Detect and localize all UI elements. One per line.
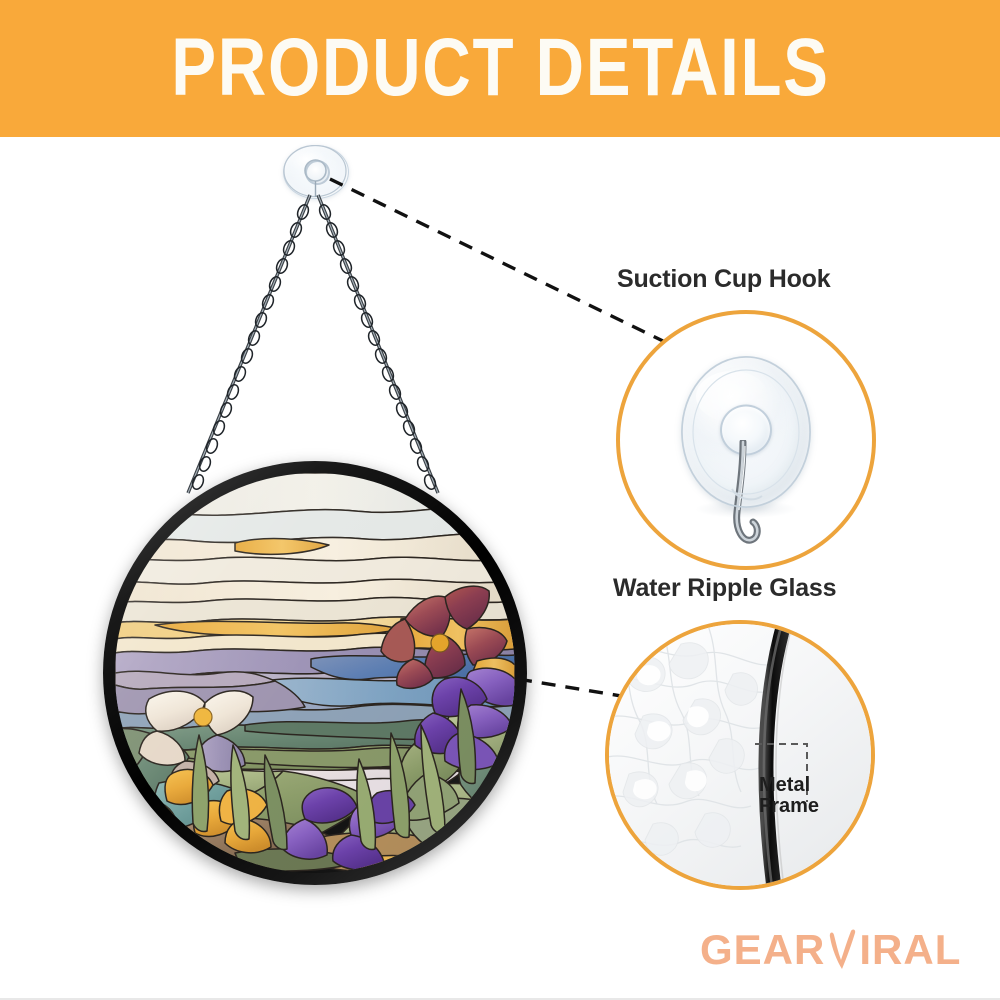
callout-label-water-ripple-glass: Water Ripple Glass — [613, 574, 836, 603]
logo-text-part1: GEAR — [700, 926, 825, 974]
stained-glass-artwork — [115, 473, 515, 873]
ripple-glass-texture-icon — [609, 624, 871, 886]
logo-text-part2: IRAL — [859, 926, 961, 974]
metal-frame-label-line2: Frame — [759, 796, 819, 817]
metal-frame-ring — [103, 461, 527, 885]
callout-label-suction-cup-hook: Suction Cup Hook — [617, 265, 830, 294]
brand-logo: GEAR IRAL — [700, 926, 961, 974]
detail-ring-ripple-glass: Metal Frame — [605, 620, 875, 890]
suncatcher-disc — [103, 461, 527, 885]
metal-frame-label-line1: Metal — [759, 775, 819, 796]
chain-left — [188, 195, 310, 493]
content-stage: Suction Cup Hook Water Ripple Glass — [0, 137, 1000, 1000]
header-banner: PRODUCT DETAILS — [0, 0, 1000, 137]
product-suction-cup — [283, 145, 347, 201]
detail-ring-suction-cup — [616, 310, 876, 570]
suction-cup-rim-outline — [620, 314, 872, 566]
metal-frame-callout: Metal Frame — [759, 775, 819, 817]
chain-left-links — [191, 203, 311, 491]
chain-right — [318, 195, 438, 493]
product-details-infographic: PRODUCT DETAILS — [0, 0, 1000, 1000]
stained-glass-panels-icon — [115, 473, 515, 873]
chain-right-links — [318, 203, 438, 491]
suction-cup-outline-icon — [283, 145, 347, 201]
logo-v-checkmark-icon — [825, 927, 859, 973]
page-title: PRODUCT DETAILS — [171, 27, 829, 109]
